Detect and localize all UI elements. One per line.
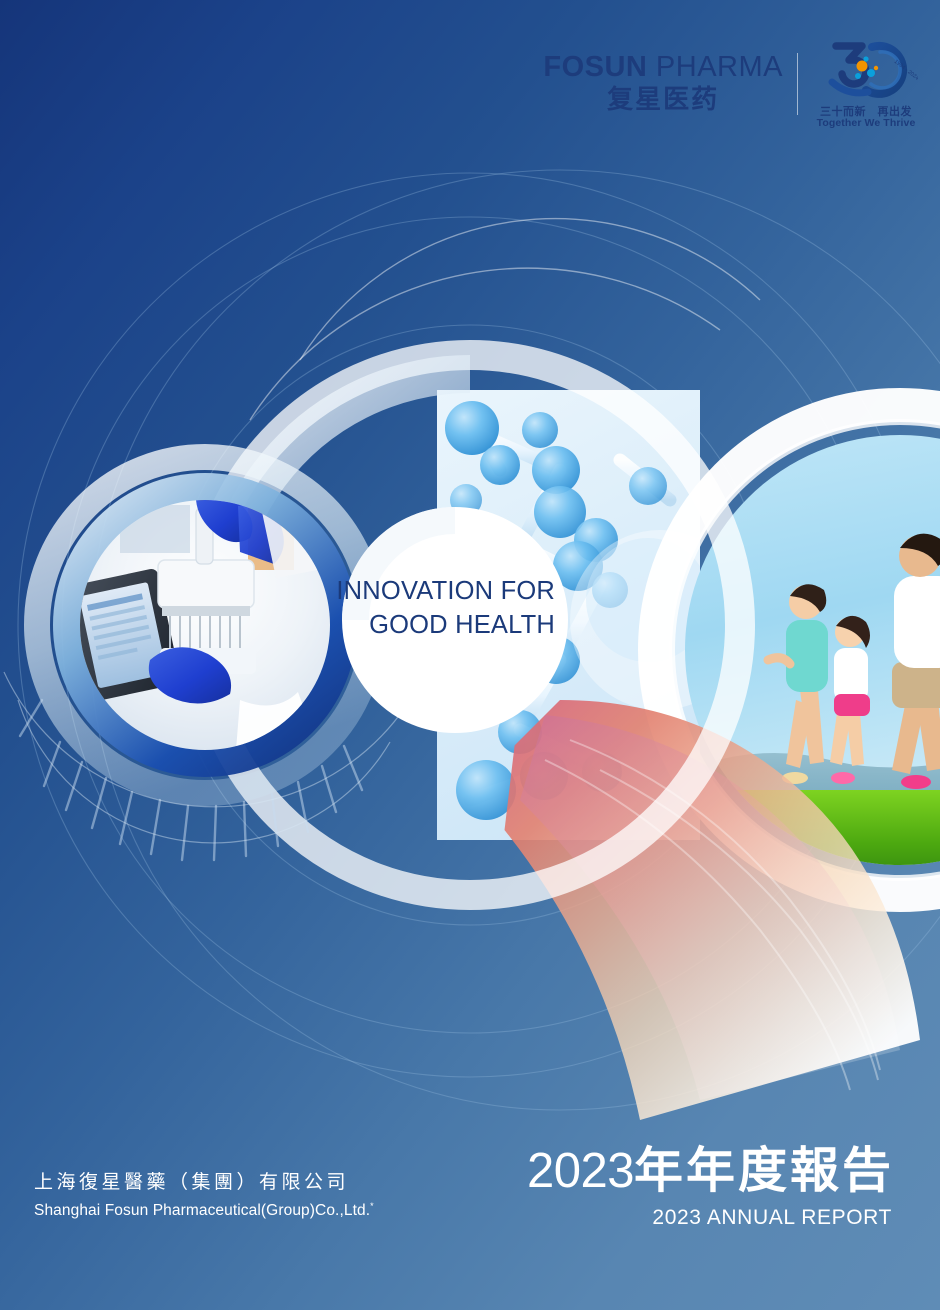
- fosun-chinese-name: 复星医药: [543, 85, 783, 115]
- anniversary-dot-orange: [857, 61, 868, 72]
- company-name-english-text: Shanghai Fosun Pharmaceutical(Group)Co.,…: [34, 1202, 370, 1219]
- company-name-chinese: 上海復星醫藥（集團）有限公司: [34, 1170, 374, 1196]
- glove-lower: [149, 647, 231, 703]
- anniversary-dot-cyan: [867, 69, 875, 77]
- lab-tablet: [67, 568, 182, 703]
- radial-tick-lines: [20, 700, 362, 860]
- report-year: 2023: [527, 1144, 634, 1198]
- family-photo-circle: [685, 435, 940, 910]
- company-name-block: 上海復星醫藥（集團）有限公司 Shanghai Fosun Pharmaceut…: [34, 1170, 374, 1222]
- cover-tagline: INNOVATION FOR GOOD HEALTH: [300, 575, 555, 642]
- multichannel-pipette: [158, 500, 256, 674]
- family-circle-white-ring: [655, 405, 940, 895]
- report-title-english: 2023 ANNUAL REPORT: [527, 1205, 894, 1230]
- tagline-line-1: INNOVATION FOR: [300, 575, 555, 609]
- fosun-wordmark: FOSUN PHARMA: [543, 53, 783, 82]
- figure-mother: [768, 584, 828, 784]
- company-name-english: Shanghai Fosun Pharmaceutical(Group)Co.,…: [34, 1200, 374, 1222]
- background-artwork: [0, 0, 940, 1310]
- report-title-chinese: 年年度報告: [634, 1144, 894, 1198]
- wordmark-fosun: FOSUN: [543, 51, 647, 83]
- annual-report-cover: FOSUN PHARMA 复星医药: [0, 0, 940, 1310]
- radial-arc-lines: [4, 672, 406, 843]
- glove-upper: [196, 494, 252, 542]
- report-title-block: 2023年年度報告 2023 ANNUAL REPORT: [527, 1146, 894, 1230]
- anniversary-english-slogan: Together We Thrive: [814, 118, 918, 130]
- anniversary-30-mark: 1994 - 2024: [814, 38, 918, 100]
- coral-accent-ribbon: [470, 700, 920, 1120]
- tagline-line-2: GOOD HEALTH: [300, 609, 555, 643]
- highlight-arcs: [250, 219, 760, 420]
- report-title-main: 2023年年度報告: [527, 1146, 894, 1197]
- fosun-pharma-logo: FOSUN PHARMA 复星医药: [543, 53, 797, 115]
- figure-daughter: [830, 616, 870, 784]
- wordmark-pharma: PHARMA: [647, 51, 783, 83]
- center-ring-halo: [200, 355, 470, 700]
- company-name-footnote-mark: *: [370, 1201, 374, 1211]
- anniversary-logo: 1994 - 2024 三十而新 再出发 Together We Thrive: [814, 38, 918, 130]
- brand-header: FOSUN PHARMA 复星医药: [543, 38, 918, 130]
- figure-father: [892, 534, 940, 789]
- logo-divider: [797, 53, 798, 115]
